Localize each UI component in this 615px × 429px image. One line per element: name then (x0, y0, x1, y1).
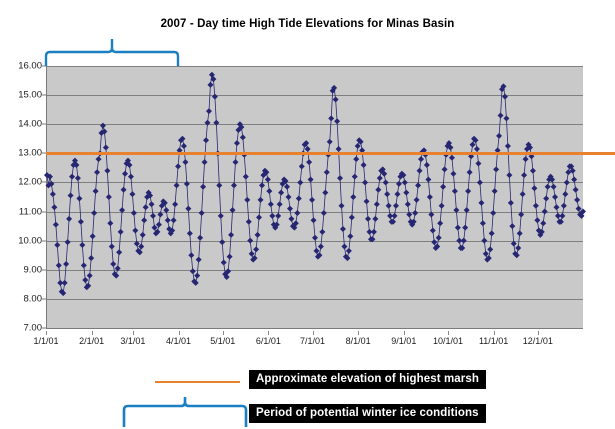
series-marker (182, 159, 188, 165)
series-marker (322, 190, 328, 196)
series-marker (197, 235, 203, 241)
series-marker (203, 137, 209, 143)
x-axis-tick-label: 2/1/01 (79, 336, 104, 346)
plot-area (46, 66, 583, 329)
series-marker (437, 220, 443, 226)
series-marker (134, 241, 140, 247)
series-marker (140, 232, 146, 238)
x-axis-tick-mark (404, 331, 405, 335)
series-marker (324, 169, 330, 175)
series-marker (165, 217, 171, 223)
legend-swatch-blue-bracket-icon (122, 396, 250, 428)
series-marker (436, 235, 442, 241)
series-marker (115, 265, 121, 271)
series-marker (213, 120, 219, 126)
series-marker (87, 273, 93, 279)
series-marker (383, 179, 389, 185)
series-marker (542, 209, 548, 215)
series-marker (340, 226, 346, 232)
series-marker (571, 177, 577, 183)
series-marker (258, 197, 264, 203)
series-marker (121, 187, 127, 193)
series-marker (464, 207, 470, 213)
series-marker (218, 213, 224, 219)
series-marker (200, 184, 206, 190)
series-marker (221, 260, 227, 266)
x-axis-tick-label: 5/1/01 (210, 336, 235, 346)
series-marker (505, 143, 511, 149)
series-marker (91, 210, 97, 216)
series-marker (520, 191, 526, 197)
series-marker (305, 146, 311, 152)
series-marker (138, 243, 144, 249)
x-axis-tick-label: 7/1/01 (300, 336, 325, 346)
series-marker (50, 191, 56, 197)
series-marker (492, 188, 498, 194)
series-marker (396, 181, 402, 187)
series-marker (511, 241, 517, 247)
series-marker (187, 230, 193, 236)
series-marker (284, 184, 290, 190)
series-marker (184, 181, 190, 187)
series-marker (174, 182, 180, 188)
series-marker (418, 156, 424, 162)
series-marker (66, 216, 72, 222)
series-marker (531, 185, 537, 191)
series-marker (427, 194, 433, 200)
series-marker (93, 188, 99, 194)
series-marker (346, 248, 352, 254)
x-axis-tick-label: 6/1/01 (256, 336, 281, 346)
series-marker (523, 156, 529, 162)
series-marker (530, 168, 536, 174)
series-marker (574, 197, 580, 203)
series-marker (275, 213, 281, 219)
x-axis: 1/1/012/1/013/1/014/1/015/1/016/1/017/1/… (46, 331, 582, 349)
series-marker (109, 243, 115, 249)
series-marker (365, 216, 371, 222)
series-marker (321, 210, 327, 216)
series-marker (216, 182, 222, 188)
series-marker (374, 201, 380, 207)
y-axis-tick-label: 16.00 (0, 61, 42, 72)
series-marker (428, 211, 434, 217)
series-marker (253, 246, 259, 252)
series-marker (212, 94, 218, 100)
series-marker (461, 238, 467, 244)
series-marker (414, 197, 420, 203)
series-marker (328, 115, 334, 121)
y-axis-tick-label: 7.00 (0, 323, 42, 334)
x-axis-tick-mark (46, 331, 47, 335)
series-marker (506, 172, 512, 178)
series-marker (424, 162, 430, 168)
series-marker (478, 200, 484, 206)
series-marker (131, 210, 137, 216)
series-marker (474, 146, 480, 152)
series-marker (285, 194, 291, 200)
series-marker (296, 195, 302, 201)
series-marker (172, 201, 178, 207)
y-axis-tick-label: 15.00 (0, 90, 42, 101)
series-marker (205, 120, 211, 126)
series-marker (318, 243, 324, 249)
y-axis-tick-label: 8.00 (0, 293, 42, 304)
series-marker (266, 188, 272, 194)
series-marker (268, 201, 274, 207)
series-marker (247, 238, 253, 244)
y-axis-tick-label: 11.00 (0, 206, 42, 217)
y-axis-tick-label: 12.00 (0, 177, 42, 188)
series-marker (503, 115, 509, 121)
series-marker (333, 96, 339, 102)
series-marker (100, 123, 106, 129)
x-axis-tick-mark (179, 331, 180, 335)
series-marker (319, 229, 325, 235)
series-marker (107, 220, 113, 226)
series-marker (362, 179, 368, 185)
series-marker (462, 225, 468, 231)
series-marker (386, 203, 392, 209)
series-marker (309, 197, 315, 203)
series-marker (53, 222, 59, 228)
x-axis-tick-mark (538, 331, 539, 335)
series-marker (308, 177, 314, 183)
y-axis-tick-label: 10.00 (0, 235, 42, 246)
series-marker (552, 194, 558, 200)
series-marker (355, 143, 361, 149)
series-marker (517, 230, 523, 236)
series-marker (533, 203, 539, 209)
series-marker (336, 146, 342, 152)
series-marker (185, 206, 191, 212)
series-marker (56, 262, 62, 268)
winter-ice-period-bracket (44, 38, 180, 68)
series-marker (576, 206, 582, 212)
series-marker (255, 232, 261, 238)
y-axis-tick-label: 14.00 (0, 119, 42, 130)
series-marker (489, 230, 495, 236)
series-marker (353, 156, 359, 162)
series-marker (483, 251, 489, 257)
series-marker (132, 227, 138, 233)
series-marker (440, 184, 446, 190)
series-marker (190, 268, 196, 274)
series-marker (477, 179, 483, 185)
series-marker (470, 142, 476, 148)
series-marker (551, 184, 557, 190)
series-marker (449, 155, 455, 161)
series-marker (509, 223, 515, 229)
x-axis-tick-mark (92, 331, 93, 335)
series-marker (467, 169, 473, 175)
series-marker (256, 214, 262, 220)
series-marker (545, 184, 551, 190)
x-axis-tick-mark (448, 331, 449, 335)
series-marker (63, 261, 69, 267)
series-marker (375, 187, 381, 193)
series-marker (294, 210, 300, 216)
series-marker (110, 261, 116, 267)
series-marker (403, 190, 409, 196)
series-line (47, 75, 583, 293)
series-marker (553, 204, 559, 210)
series-marker (116, 249, 122, 255)
series-marker (487, 246, 493, 252)
series-marker (103, 145, 109, 151)
series-marker (232, 159, 238, 165)
series-marker (219, 239, 225, 245)
tide-elevation-chart: 2007 - Day time High Tide Elevations for… (0, 0, 615, 429)
series-marker (106, 194, 112, 200)
series-marker (534, 217, 540, 223)
series-marker (339, 203, 345, 209)
series-marker (480, 220, 486, 226)
series-marker (51, 204, 57, 210)
series-marker (493, 166, 499, 172)
series-marker (156, 222, 162, 228)
series-marker (62, 280, 68, 286)
tide-series (47, 66, 583, 328)
series-marker (141, 217, 147, 223)
series-marker (288, 216, 294, 222)
series-marker (415, 182, 421, 188)
x-axis-tick-mark (494, 331, 495, 335)
series-marker (249, 251, 255, 257)
series-marker (259, 182, 265, 188)
series-marker (151, 225, 157, 231)
series-marker (297, 179, 303, 185)
series-marker (327, 139, 333, 145)
series-marker (119, 207, 125, 213)
series-marker (230, 207, 236, 213)
series-marker (171, 217, 177, 223)
series-marker (515, 245, 521, 251)
series-marker (269, 213, 275, 219)
series-marker (265, 177, 271, 183)
series-marker (496, 133, 502, 139)
series-marker (559, 213, 565, 219)
x-axis-tick-mark (358, 331, 359, 335)
series-marker (490, 210, 496, 216)
series-marker (206, 108, 212, 114)
x-axis-tick-label: 3/1/01 (120, 336, 145, 346)
series-marker (312, 235, 318, 241)
series-marker (361, 162, 367, 168)
series-marker (372, 216, 378, 222)
series-marker (561, 203, 567, 209)
series-marker (96, 156, 102, 162)
x-axis-tick-label: 4/1/01 (166, 336, 191, 346)
series-marker (199, 210, 205, 216)
series-marker (543, 195, 549, 201)
series-marker (481, 238, 487, 244)
y-axis-tick-label: 9.00 (0, 264, 42, 275)
x-axis-tick-label: 11/1/01 (479, 336, 508, 346)
series-marker (502, 94, 508, 100)
series-marker (349, 214, 355, 220)
series-marker (128, 174, 134, 180)
series-marker (364, 198, 370, 204)
legend-swatch-orange-line-icon (155, 381, 240, 383)
series-marker (88, 255, 94, 261)
series-marker (194, 273, 200, 279)
series-marker (465, 188, 471, 194)
series-marker (163, 207, 169, 213)
series-marker (278, 190, 284, 196)
series-marker (452, 188, 458, 194)
series-marker (244, 197, 250, 203)
series-marker (521, 172, 527, 178)
series-marker (68, 193, 74, 199)
series-marker (202, 159, 208, 165)
marsh-elevation-reference-line (46, 152, 615, 155)
series-marker (455, 225, 461, 231)
series-marker (394, 191, 400, 197)
series-marker (150, 213, 156, 219)
series-marker (82, 277, 88, 283)
series-marker (227, 254, 233, 260)
series-marker (377, 175, 383, 181)
series-marker (371, 229, 377, 235)
series-marker (430, 227, 436, 233)
series-marker (54, 242, 60, 248)
series-marker (393, 203, 399, 209)
legend-label-ice: Period of potential winter ice condition… (249, 404, 486, 423)
series-marker (228, 232, 234, 238)
series-marker (240, 134, 246, 140)
series-marker (94, 169, 100, 175)
series-marker (306, 159, 312, 165)
series-marker (76, 195, 82, 201)
series-marker (350, 194, 356, 200)
series-marker (498, 112, 504, 118)
x-axis-tick-label: 8/1/01 (346, 336, 371, 346)
series-marker (175, 163, 181, 169)
series-marker (431, 239, 437, 245)
series-marker (564, 179, 570, 185)
series-marker (65, 239, 71, 245)
y-axis-tick-label: 13.00 (0, 148, 42, 159)
y-axis: 16.0015.0014.0013.0012.0011.0010.009.008… (0, 66, 42, 328)
series-marker (337, 175, 343, 181)
series-marker (196, 257, 202, 263)
series-marker (352, 174, 358, 180)
series-marker (334, 118, 340, 124)
chart-title: 2007 - Day time High Tide Elevations for… (0, 18, 615, 30)
series-marker (78, 219, 84, 225)
series-marker (417, 168, 423, 174)
series-marker (129, 191, 135, 197)
x-axis-tick-label: 10/1/01 (433, 336, 463, 346)
x-axis-tick-label: 12/1/01 (523, 336, 553, 346)
series-marker (90, 233, 96, 239)
series-marker (425, 177, 431, 183)
series-marker (69, 174, 75, 180)
series-marker (157, 211, 163, 217)
x-axis-tick-mark (268, 331, 269, 335)
series-marker (392, 213, 398, 219)
series-marker (341, 243, 347, 249)
series-marker (508, 200, 514, 206)
series-marker (118, 229, 124, 235)
series-marker (442, 166, 448, 172)
series-marker (246, 219, 252, 225)
series-marker (450, 171, 456, 177)
series-marker (347, 233, 353, 239)
series-marker (384, 191, 390, 197)
series-marker (207, 82, 213, 88)
series-marker (453, 207, 459, 213)
series-marker (562, 191, 568, 197)
x-axis-tick-mark (313, 331, 314, 335)
series-marker (75, 175, 81, 181)
series-marker (181, 143, 187, 149)
x-axis-tick-label: 1/1/01 (33, 336, 58, 346)
series-marker (81, 262, 87, 268)
series-marker (79, 242, 85, 248)
series-marker (402, 179, 408, 185)
series-marker (573, 187, 579, 193)
series-marker (518, 211, 524, 217)
series-marker (231, 182, 237, 188)
x-axis-tick-label: 9/1/01 (391, 336, 416, 346)
series-marker (405, 201, 411, 207)
series-marker (475, 161, 481, 167)
series-marker (243, 174, 249, 180)
x-axis-tick-mark (223, 331, 224, 335)
series-marker (540, 220, 546, 226)
series-marker (143, 204, 149, 210)
series-marker (311, 217, 317, 223)
series-marker (234, 140, 240, 146)
legend-label-marsh: Approximate elevation of highest marsh (249, 370, 486, 389)
series-marker (149, 201, 155, 207)
series-marker (299, 163, 305, 169)
series-marker (122, 171, 128, 177)
x-axis-tick-mark (133, 331, 134, 335)
series-marker (412, 210, 418, 216)
series-marker (188, 252, 194, 258)
series-marker (287, 206, 293, 212)
series-marker (313, 248, 319, 254)
series-marker (277, 201, 283, 207)
series-marker (406, 211, 412, 217)
series-marker (439, 203, 445, 209)
series-marker (104, 168, 110, 174)
